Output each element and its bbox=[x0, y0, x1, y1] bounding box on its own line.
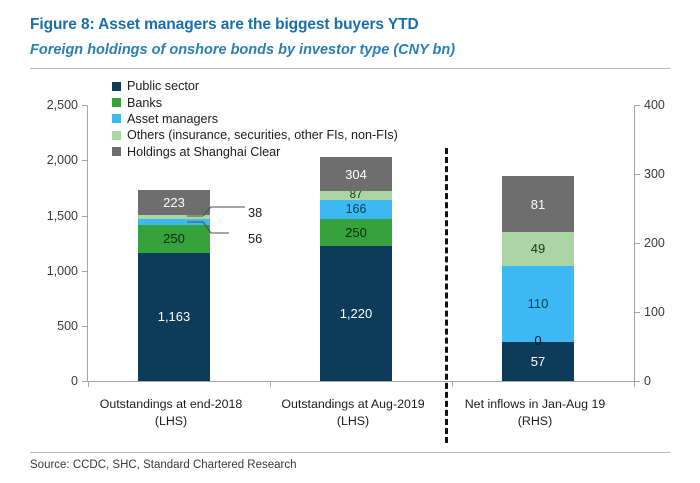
bar-net-inflows-jan-aug-19[interactable]: 57 110 49 81 0 bbox=[502, 176, 574, 381]
legend-label-public-sector: Public sector bbox=[127, 79, 199, 93]
x-axis-line bbox=[88, 381, 634, 382]
segment-others-b3[interactable]: 49 bbox=[502, 232, 574, 266]
y-label-right-300: 300 bbox=[644, 167, 694, 181]
y-label-right-100: 100 bbox=[644, 305, 694, 319]
x-tick-1 bbox=[270, 382, 271, 387]
value-banks-b1: 250 bbox=[163, 232, 185, 245]
segment-shanghai-clear-b3[interactable]: 81 bbox=[502, 176, 574, 232]
x-category-label-1: Outstandings at Aug-2019 (LHS) bbox=[268, 396, 438, 430]
x-category-label-1-line1: Outstandings at Aug-2019 bbox=[268, 396, 438, 413]
x-tick-3 bbox=[634, 382, 635, 387]
panel-divider-dashed bbox=[445, 148, 448, 443]
x-category-label-0-line2: (LHS) bbox=[86, 413, 256, 430]
segment-public-sector-b2[interactable]: 1,220 bbox=[320, 246, 392, 381]
y-tick-left-500 bbox=[82, 326, 87, 327]
segment-asset-managers-b2[interactable]: 166 bbox=[320, 200, 392, 218]
x-category-label-2: Net inflows in Jan-Aug 19 (RHS) bbox=[450, 396, 620, 430]
x-tick-0 bbox=[88, 382, 89, 387]
y-tick-right-300 bbox=[635, 174, 640, 175]
y-tick-left-0 bbox=[82, 381, 87, 382]
value-asset-managers-b3: 110 bbox=[528, 297, 549, 310]
y-tick-right-0 bbox=[635, 381, 640, 382]
callout-value-56: 56 bbox=[248, 231, 262, 246]
legend-swatch-public-sector bbox=[112, 82, 121, 91]
value-others-b2: 87 bbox=[350, 190, 363, 202]
figure-root: Figure 8: Asset managers are the biggest… bbox=[0, 0, 700, 483]
y-label-left-1500: 1,500 bbox=[26, 209, 78, 223]
y-tick-left-2000 bbox=[82, 160, 87, 161]
page-subtitle: Foreign holdings of onshore bonds by inv… bbox=[30, 42, 455, 58]
page-title: Figure 8: Asset managers are the biggest… bbox=[30, 16, 419, 34]
y-label-left-0: 0 bbox=[26, 374, 78, 388]
y-label-left-2000: 2,000 bbox=[26, 153, 78, 167]
y-tick-right-200 bbox=[635, 243, 640, 244]
x-category-label-0: Outstandings at end-2018 (LHS) bbox=[86, 396, 256, 430]
x-category-label-2-line1: Net inflows in Jan-Aug 19 bbox=[450, 396, 620, 413]
value-banks-b3: 0 bbox=[502, 333, 574, 348]
callout-value-38: 38 bbox=[248, 205, 262, 220]
value-others-b3: 49 bbox=[531, 242, 545, 255]
y-tick-right-400 bbox=[635, 105, 640, 106]
segment-asset-managers-b3[interactable]: 110 bbox=[502, 266, 574, 342]
y-label-left-500: 500 bbox=[26, 319, 78, 333]
header-divider bbox=[30, 68, 670, 69]
y-tick-right-100 bbox=[635, 312, 640, 313]
segment-shanghai-clear-b2[interactable]: 304 bbox=[320, 157, 392, 191]
legend-item-public-sector[interactable]: Public sector bbox=[112, 78, 398, 94]
y-label-left-1000: 1,000 bbox=[26, 264, 78, 278]
source-note: Source: CCDC, SHC, Standard Chartered Re… bbox=[30, 459, 297, 471]
segment-banks-b2[interactable]: 250 bbox=[320, 219, 392, 247]
bar-outstandings-aug-2019[interactable]: 1,220 250 166 87 304 bbox=[320, 157, 392, 381]
value-shanghai-clear-b2: 304 bbox=[345, 168, 367, 181]
y-label-right-400: 400 bbox=[644, 98, 694, 112]
x-category-label-1-line2: (LHS) bbox=[268, 413, 438, 430]
x-tick-2 bbox=[452, 382, 453, 387]
callout-leader-lines bbox=[185, 200, 285, 250]
y-tick-left-1500 bbox=[82, 216, 87, 217]
x-category-label-0-line1: Outstandings at end-2018 bbox=[86, 396, 256, 413]
footer-divider bbox=[30, 452, 670, 453]
value-public-sector-b1: 1,163 bbox=[158, 310, 191, 323]
value-public-sector-b2: 1,220 bbox=[340, 307, 373, 320]
y-tick-left-1000 bbox=[82, 271, 87, 272]
segment-public-sector-b1[interactable]: 1,163 bbox=[138, 253, 210, 381]
value-shanghai-clear-b3: 81 bbox=[531, 198, 545, 211]
y-label-right-200: 200 bbox=[644, 236, 694, 250]
value-shanghai-clear-b1: 223 bbox=[163, 196, 185, 209]
y-label-right-0: 0 bbox=[644, 374, 694, 388]
x-category-label-2-line2: (RHS) bbox=[450, 413, 620, 430]
value-public-sector-b3: 57 bbox=[531, 355, 545, 368]
plot-area: 1,163 250 223 1,220 250 166 87 304 57 11… bbox=[88, 105, 634, 381]
value-banks-b2: 250 bbox=[345, 226, 367, 239]
y-tick-left-2500 bbox=[82, 105, 87, 106]
value-asset-managers-b2: 166 bbox=[346, 203, 367, 216]
y-label-left-2500: 2,500 bbox=[26, 98, 78, 112]
segment-others-b2[interactable]: 87 bbox=[320, 191, 392, 201]
